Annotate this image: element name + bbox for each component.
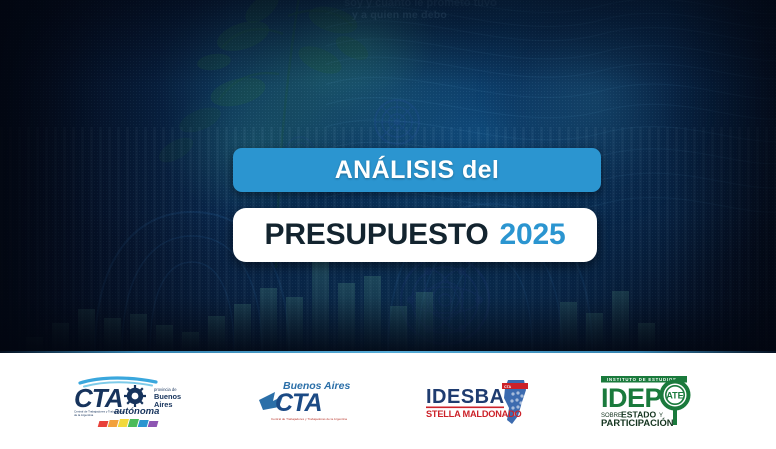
title-banner-secondary: PRESUPUESTO 2025	[233, 208, 597, 262]
title-line-2-year: 2025	[500, 218, 566, 252]
svg-text:STELLA MALDONADO: STELLA MALDONADO	[426, 409, 522, 419]
svg-text:autónoma: autónoma	[114, 406, 159, 417]
svg-text:Central de Trabajadores y Trab: Central de Trabajadores y Trabajadoras d…	[271, 417, 347, 421]
cta-buenos-aires-mark: Buenos Aires CTA Central de Trabajadores…	[257, 376, 361, 426]
poster-root: soy y cuanto le prometo tuvo y a quien m…	[0, 0, 776, 449]
title-line-2-word: PRESUPUESTO	[265, 218, 489, 252]
svg-text:INSTITUTO DE ESTUDIOS: INSTITUTO DE ESTUDIOS	[607, 377, 677, 382]
footer-logo-bar: CTA provincia de Buenos Aires Central de…	[0, 353, 776, 449]
svg-text:CTA: CTA	[275, 389, 322, 417]
svg-text:ATE: ATE	[666, 390, 683, 400]
logo-cta-buenos-aires: Buenos Aires CTA Central de Trabajadores…	[257, 376, 361, 426]
svg-text:de la Argentina: de la Argentina	[74, 413, 94, 417]
title-line-1: ANÁLISIS del	[335, 156, 500, 185]
svg-text:CTA: CTA	[504, 385, 512, 389]
idesba-mark: CTA IDESBA STELLA MALDONADO	[424, 377, 536, 425]
title-banner-primary: ANÁLISIS del	[233, 148, 601, 192]
idep-mark: INSTITUTO DE ESTUDIOS IDEP ATE SOBRE EST…	[599, 375, 711, 427]
logo-idep: INSTITUTO DE ESTUDIOS IDEP ATE SOBRE EST…	[599, 375, 711, 427]
cta-autonoma-mark: CTA provincia de Buenos Aires Central de…	[66, 374, 194, 428]
svg-text:PARTICIPACIÓN: PARTICIPACIÓN	[601, 417, 674, 428]
logo-cta-autonoma: CTA provincia de Buenos Aires Central de…	[66, 374, 194, 428]
svg-text:IDEP: IDEP	[601, 383, 663, 413]
svg-text:IDESBA: IDESBA	[426, 386, 505, 408]
logo-idesba: CTA IDESBA STELLA MALDONADO	[424, 377, 536, 425]
